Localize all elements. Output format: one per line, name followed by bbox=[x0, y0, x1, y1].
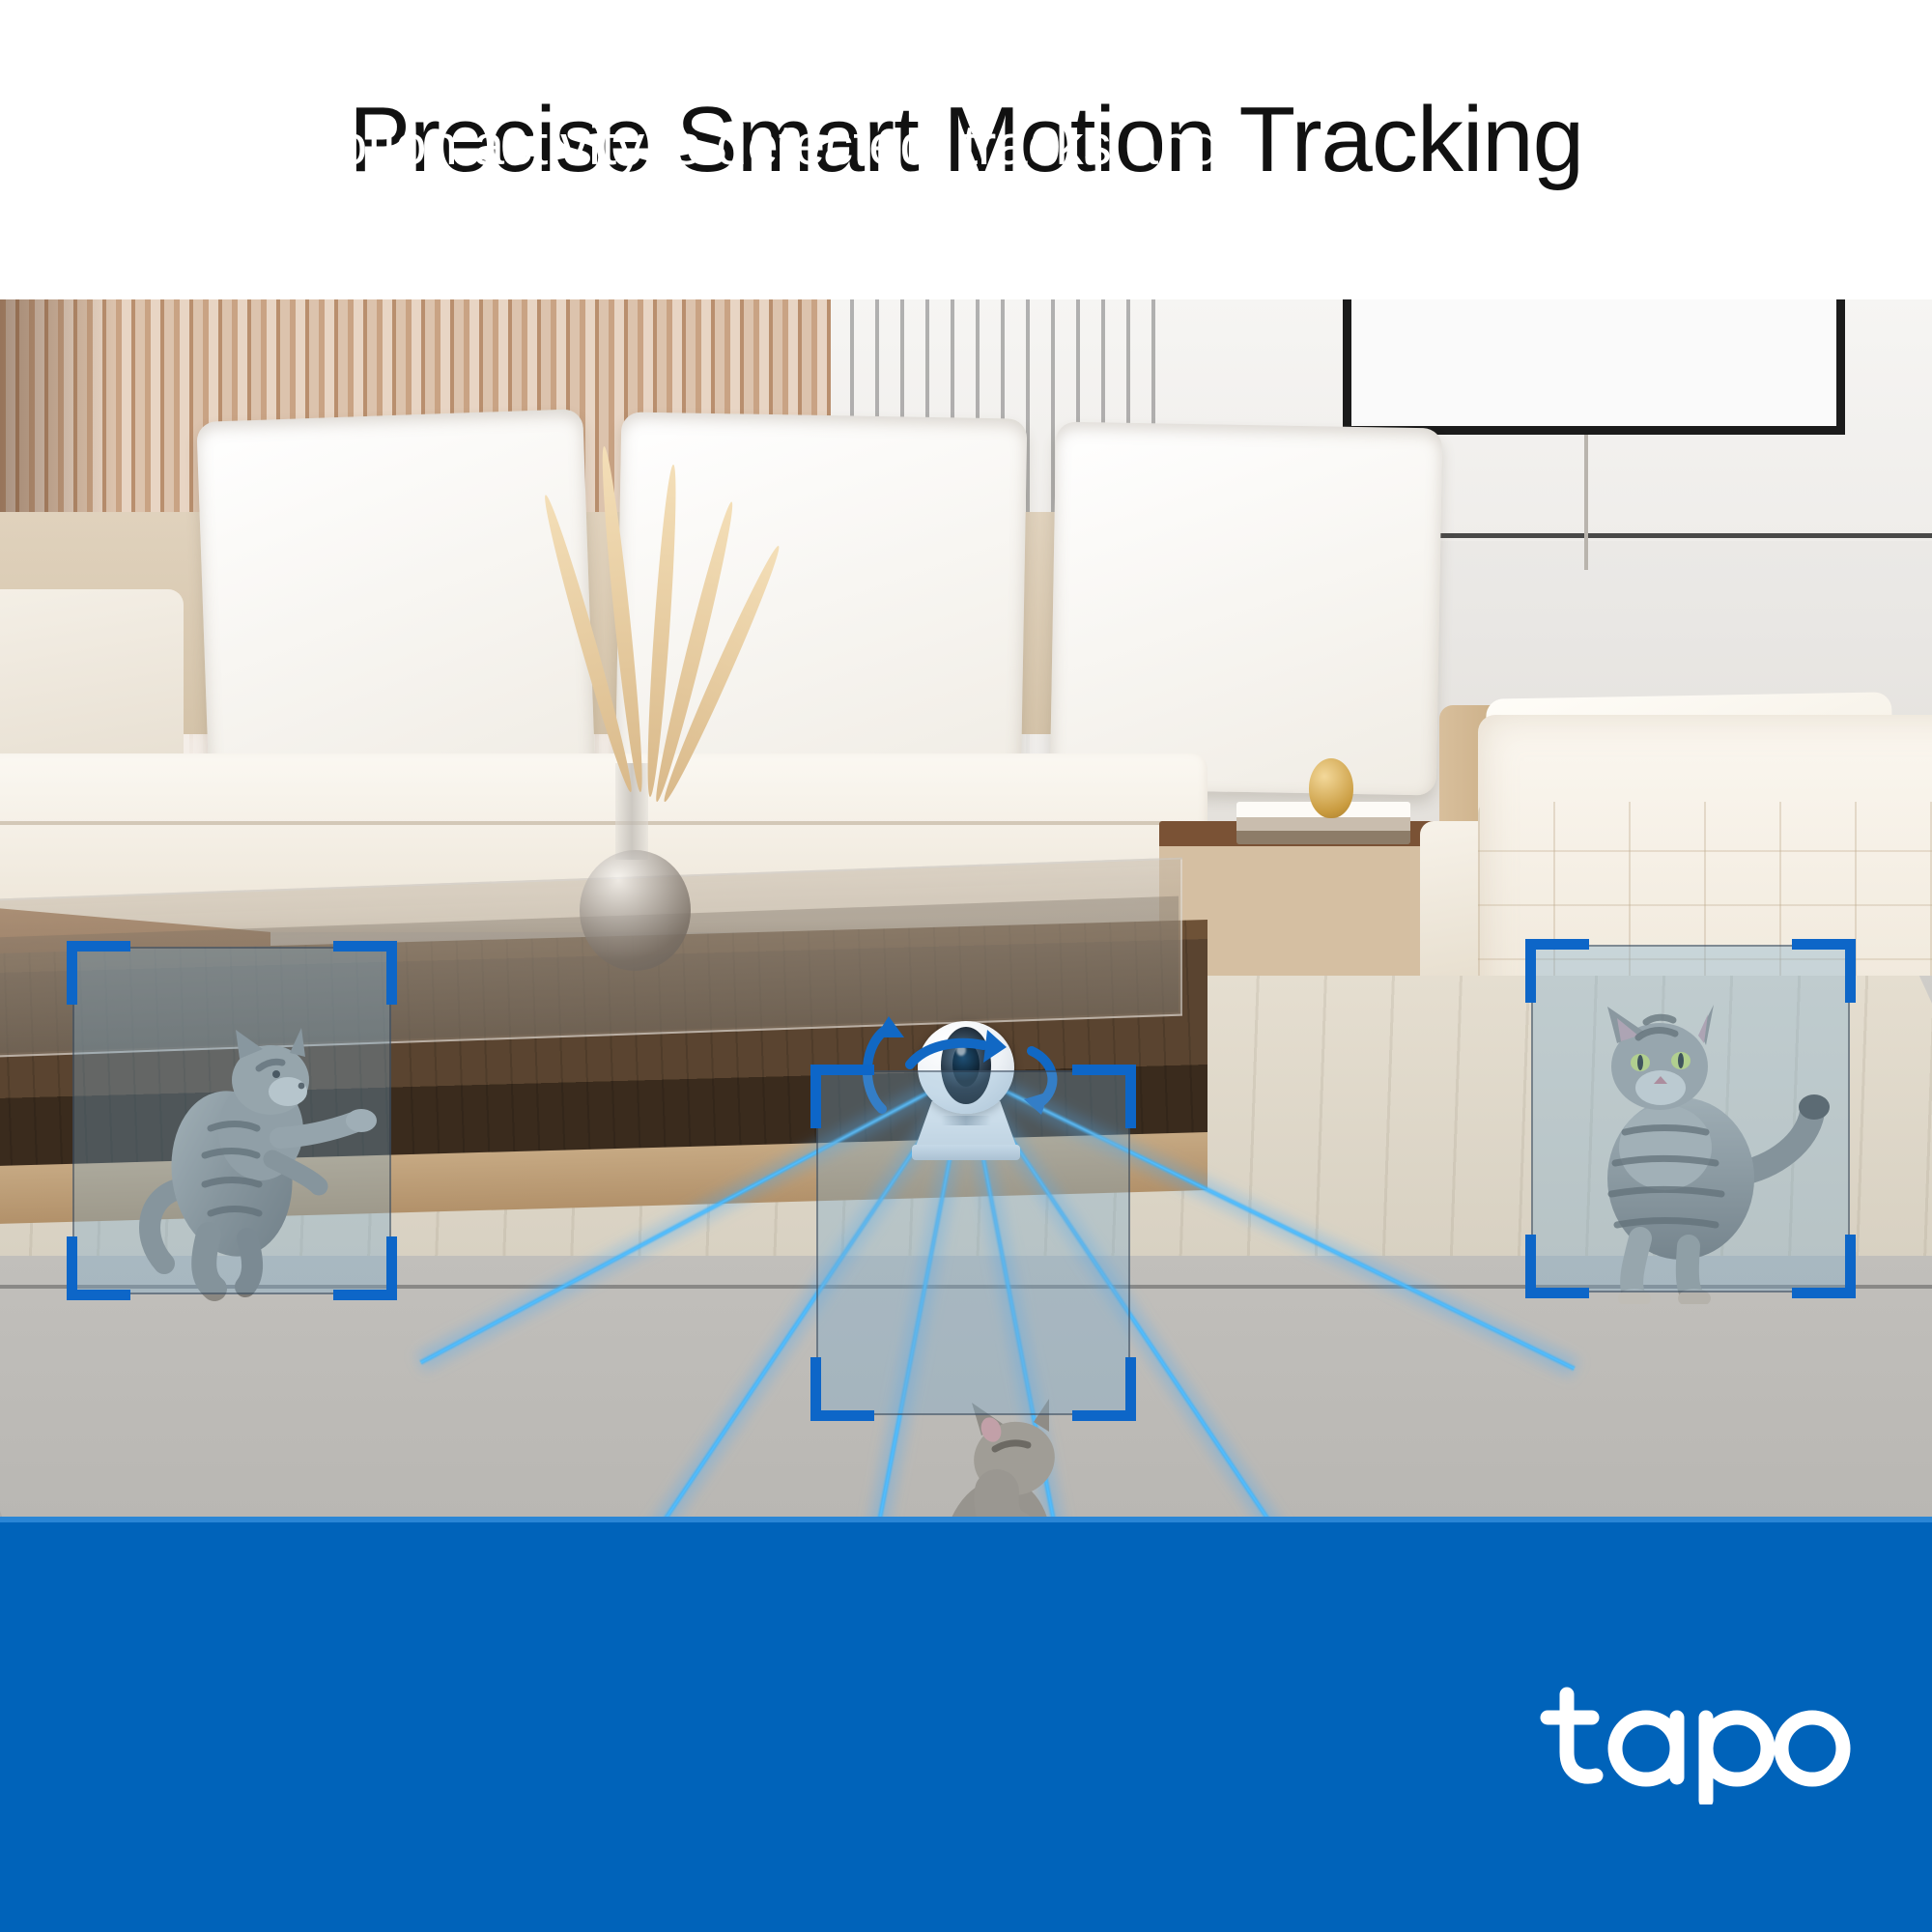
detection-frame-center[interactable] bbox=[816, 1070, 1130, 1415]
bracket-top-left-icon bbox=[67, 941, 130, 1005]
sofa-cushion bbox=[1050, 422, 1443, 796]
bracket-bottom-left-icon bbox=[1525, 1235, 1589, 1298]
page-root: Precise Smart Motion Tracking bbox=[0, 0, 1932, 1932]
bracket-bottom-right-icon bbox=[333, 1236, 397, 1300]
bracket-bottom-left-icon bbox=[67, 1236, 130, 1300]
gold-egg-ornament bbox=[1309, 758, 1353, 818]
wall-ledge-line bbox=[1584, 435, 1588, 570]
bracket-top-right-icon bbox=[333, 941, 397, 1005]
detection-frame-left[interactable] bbox=[72, 947, 391, 1294]
bracket-bottom-left-icon bbox=[810, 1357, 874, 1421]
pan-arrowhead-icon bbox=[983, 1030, 1007, 1063]
pampas-grass-vase bbox=[580, 850, 691, 971]
bracket-bottom-right-icon bbox=[1072, 1357, 1136, 1421]
footer-caption: When motion activity is detected, tracks… bbox=[128, 106, 1383, 266]
bracket-bottom-right-icon bbox=[1792, 1235, 1856, 1298]
caption-line-2: follows the subject to keep it within vi… bbox=[128, 185, 1383, 265]
sofa-seam bbox=[0, 821, 1207, 825]
tilt-arrowhead-icon bbox=[875, 1016, 904, 1037]
detection-frame-right[interactable] bbox=[1531, 945, 1850, 1293]
bracket-top-left-icon bbox=[1525, 939, 1589, 1003]
tapo-logo bbox=[1538, 1679, 1857, 1804]
vase-neck bbox=[615, 763, 648, 860]
framed-picture bbox=[1343, 299, 1845, 435]
sofa-cushion bbox=[196, 409, 595, 799]
footer-top-edge bbox=[0, 1517, 1932, 1522]
bracket-top-right-icon bbox=[1072, 1065, 1136, 1128]
bracket-top-left-icon bbox=[810, 1065, 874, 1128]
caption-line-1: When motion activity is detected, tracks… bbox=[128, 106, 1383, 185]
bracket-top-right-icon bbox=[1792, 939, 1856, 1003]
pan-arrow-icon bbox=[910, 1043, 983, 1065]
